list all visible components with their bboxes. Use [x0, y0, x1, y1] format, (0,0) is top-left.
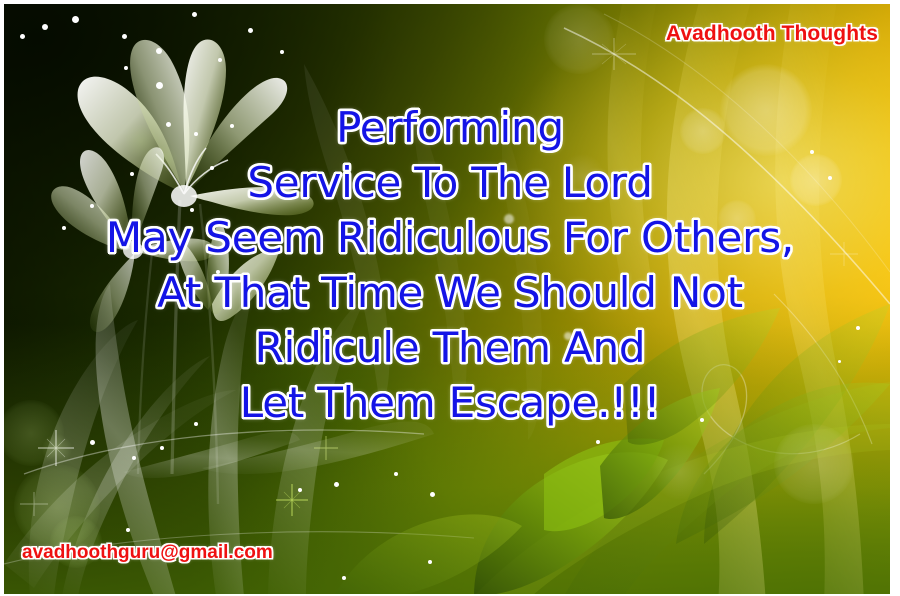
sparkle-dot	[156, 48, 162, 54]
sparkle-dot	[394, 472, 398, 476]
sparkle-dot	[20, 34, 25, 39]
sparkle-dot	[132, 456, 136, 460]
sparkle-dot	[156, 82, 163, 89]
sparkle-dot	[218, 58, 222, 62]
sparkle-dot	[334, 482, 339, 487]
quote-line: Service To The Lord	[14, 155, 886, 210]
quote-block: Performing Service To The Lord May Seem …	[0, 100, 900, 430]
quote-line: Ridicule Them And	[14, 320, 886, 375]
poster-canvas: Avadhooth Thoughts Performing Service To…	[0, 0, 900, 596]
frame-border-top	[0, 0, 900, 4]
quote-line: At That Time We Should Not	[14, 265, 886, 320]
sparkle-dot	[42, 24, 48, 30]
frame-border-left	[0, 0, 4, 596]
contact-email[interactable]: avadhoothguru@gmail.com	[22, 542, 273, 564]
sparkle-dot	[430, 492, 435, 497]
quote-line: Let Them Escape.!!!	[14, 375, 886, 430]
sparkle-dot	[192, 12, 197, 17]
sparkle-dot	[90, 440, 95, 445]
sparkle-dot	[596, 440, 600, 444]
frame-border-right	[890, 0, 900, 596]
sparkle-dot	[428, 560, 432, 564]
sparkle-dot	[248, 28, 253, 33]
sparkle-dot	[122, 34, 127, 39]
sparkle-dot	[280, 50, 284, 54]
sparkle-dot	[160, 446, 164, 450]
sparkle-dot	[124, 66, 128, 70]
sparkle-dot	[342, 576, 346, 580]
quote-line: Performing	[14, 100, 886, 155]
quote-line: May Seem Ridiculous For Others,	[14, 210, 886, 265]
sparkle-dot	[126, 528, 130, 532]
sparkle-dot	[298, 488, 302, 492]
brand-title: Avadhooth Thoughts	[666, 22, 878, 46]
sparkle-dot	[72, 16, 79, 23]
